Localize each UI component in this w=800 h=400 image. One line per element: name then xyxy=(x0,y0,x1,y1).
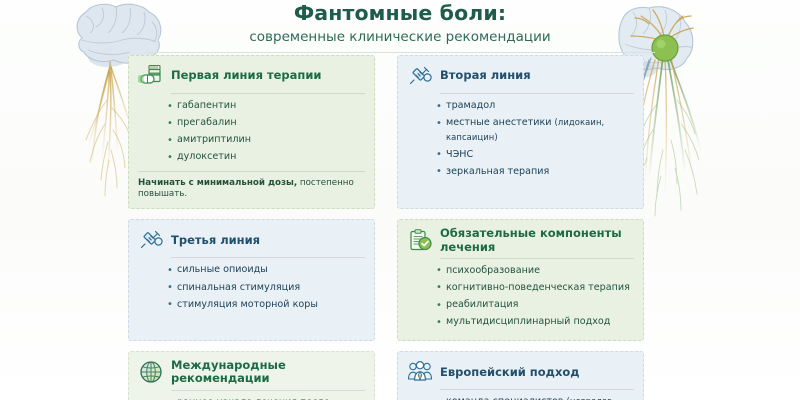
card-header: Международные рекомендации xyxy=(138,359,365,389)
card-title: Обязательные компоненты лечения xyxy=(440,227,634,253)
card-title: Международные рекомендации xyxy=(171,359,365,385)
globe-icon xyxy=(138,359,164,385)
list-item: габапентин xyxy=(166,99,365,114)
card-title: Вторая линия xyxy=(440,69,531,82)
syringe-icon xyxy=(138,227,164,253)
card-third-line: Третья линия сильные опиоиды спинальная … xyxy=(128,219,375,341)
card-bullet-list: психообразование когнитивно-поведенческа… xyxy=(435,264,634,330)
list-item: реабилитация xyxy=(435,298,634,313)
card-bullet-list: габапентин прегабалин амитриптилин дулок… xyxy=(166,99,365,165)
card-title-divider xyxy=(440,389,634,390)
card-european-approach: Европейский подход команда специалистов … xyxy=(397,351,644,400)
card-first-line-therapy: Первая линия терапии габапентин прегабал… xyxy=(128,55,375,209)
card-bullet-list: раннее начало лечения после ампутации ко… xyxy=(166,396,365,400)
infographic-header: Фантомные боли: современные клинические … xyxy=(0,2,800,53)
list-item: мультидисциплинарный подход xyxy=(435,315,634,330)
card-header: Третья линия xyxy=(138,227,365,257)
list-item: ЧЭНС xyxy=(435,148,634,163)
page-subtitle: современные клинические рекомендации xyxy=(0,29,800,45)
team-of-specialists-icon xyxy=(407,359,433,385)
page-title: Фантомные боли: xyxy=(0,2,800,26)
card-title-divider xyxy=(171,257,365,258)
card-header: Вторая линия xyxy=(407,63,634,93)
card-header: Первая линия терапии xyxy=(138,63,365,93)
header-divider xyxy=(145,52,655,53)
footnote-bold: Начинать с минимальной дозы, xyxy=(138,178,297,188)
list-item: зеркальная терапия xyxy=(435,165,634,180)
list-item: спинальная стимуляция xyxy=(166,281,365,296)
list-item-label: местные анестетики xyxy=(446,117,551,128)
card-header: Европейский подход xyxy=(407,359,634,389)
card-title: Первая линия терапии xyxy=(171,69,321,82)
card-bullet-list: команда специалистов (невролог, алголог,… xyxy=(435,395,634,400)
list-item: местные анестетики (лидокаин, капсаицин) xyxy=(435,116,634,145)
card-title: Европейский подход xyxy=(440,366,580,379)
syringe-icon xyxy=(407,63,433,89)
card-second-line: Вторая линия трамадол местные анестетики… xyxy=(397,55,644,209)
recommendation-card-grid: Первая линия терапии габапентин прегабал… xyxy=(128,55,644,400)
list-item: команда специалистов (невролог, алголог,… xyxy=(435,395,634,400)
card-title-divider xyxy=(440,93,634,94)
list-item: психообразование xyxy=(435,264,634,279)
list-item: дулоксетин xyxy=(166,150,365,165)
card-bullet-list: сильные опиоиды спинальная стимуляция ст… xyxy=(166,263,365,312)
list-item: стимуляция моторной коры xyxy=(166,298,365,313)
card-mandatory-components: Обязательные компоненты лечения психообр… xyxy=(397,219,644,341)
list-item: сильные опиоиды xyxy=(166,263,365,278)
card-international-recommendations: Международные рекомендации раннее начало… xyxy=(128,351,375,400)
infographic-page: Фантомные боли: современные клинические … xyxy=(0,0,800,400)
list-item: когнитивно-поведенческая терапия xyxy=(435,281,634,296)
pill-bottle-icon xyxy=(138,63,164,89)
list-item-label: команда специалистов xyxy=(446,396,563,400)
card-title-divider xyxy=(440,258,634,259)
card-title-divider xyxy=(171,93,365,94)
card-header: Обязательные компоненты лечения xyxy=(407,227,634,257)
card-bullet-list: трамадол местные анестетики (лидокаин, к… xyxy=(435,99,634,179)
card-title: Третья линия xyxy=(171,234,260,247)
card-footnote: Начинать с минимальной дозы, постепенно … xyxy=(138,171,365,201)
card-title-divider xyxy=(171,390,365,391)
list-item: трамадол xyxy=(435,99,634,114)
list-item: раннее начало лечения после ампутации xyxy=(166,396,365,400)
clipboard-check-icon xyxy=(407,228,433,254)
list-item: амитриптилин xyxy=(166,133,365,148)
list-item: прегабалин xyxy=(166,116,365,131)
